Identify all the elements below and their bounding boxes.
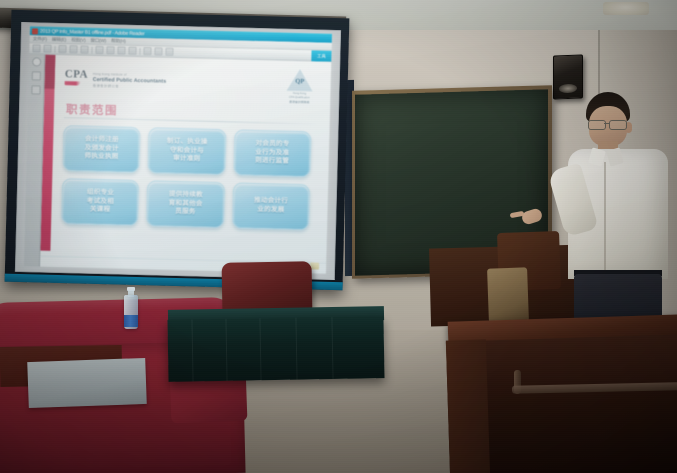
drape-fold	[295, 318, 297, 380]
qp-badge-line3: 香港會計師資格	[289, 100, 309, 105]
hand-tool-icon[interactable]	[128, 47, 136, 55]
presenter-shirt-placket	[604, 162, 606, 274]
attachments-icon[interactable]	[31, 85, 40, 94]
classroom-photo: 2013 QP Info_Master B1 offline.pdf - Ado…	[0, 0, 677, 473]
responsibility-box: 会计师注册及颁发会计师执业执照	[62, 125, 140, 173]
presenter	[560, 92, 677, 352]
responsibility-box-text: 推动会计行业的发展	[254, 197, 288, 215]
qp-triangle-icon: QP	[287, 69, 314, 92]
menu-item-file[interactable]: 文件(F)	[33, 36, 47, 42]
eyeglasses-icon	[588, 120, 628, 128]
cpa-swoosh-icon	[65, 81, 81, 85]
water-bottle	[124, 287, 138, 329]
responsibility-box-text: 对会员的专业行为及准则进行监管	[255, 140, 290, 167]
lectern-side-panel	[446, 339, 490, 473]
bookmarks-icon[interactable]	[32, 71, 41, 80]
cpa-brand-line3: 香港會計師公會	[93, 83, 167, 90]
eyeglass-lens-left	[588, 120, 606, 130]
pdf-slide: CPA Hong Kong Institute of Certified Pub…	[40, 55, 331, 274]
page-next-icon[interactable]	[106, 46, 114, 54]
drape-fold	[191, 319, 193, 381]
menu-item-window[interactable]: 窗口(W)	[90, 37, 106, 43]
drape-fold	[259, 318, 261, 380]
responsibility-box-text: 制订、执业操守和会计与审计准则	[166, 138, 207, 165]
comment-icon[interactable]	[154, 47, 162, 55]
fit-page-icon[interactable]	[165, 48, 173, 56]
responsibility-box-text: 组织专业考试及相关课程	[86, 189, 114, 216]
ceiling-light	[603, 2, 649, 15]
responsibility-box: 制订、执业操守和会计与审计准则	[148, 127, 226, 175]
document-area: CPA Hong Kong Institute of Certified Pub…	[24, 54, 331, 274]
responsibility-box: 对会员的专业行为及准则进行监管	[233, 129, 311, 177]
responsibility-box: 推动会计行业的发展	[232, 182, 310, 230]
toolbar-separator	[139, 48, 140, 55]
screen-surface: 2013 QP Info_Master B1 offline.pdf - Ado…	[15, 22, 341, 280]
qp-badge: QP Hong Kong CPA Qualification 香港會計師資格	[286, 69, 313, 105]
adobe-reader-window[interactable]: 2013 QP Info_Master B1 offline.pdf - Ado…	[24, 26, 332, 274]
adobe-reader-icon	[32, 28, 38, 34]
toolbar-separator	[54, 45, 55, 52]
qp-badge-line1: Hong Kong	[293, 92, 307, 95]
responsibility-box: 提供持续教育和其他会员服务	[146, 180, 224, 228]
wooden-chair-small	[487, 267, 529, 322]
menu-item-view[interactable]: 视图(V)	[71, 37, 85, 43]
tools-pane-tab[interactable]: 工具	[311, 50, 331, 62]
menu-item-edit[interactable]: 编辑(E)	[52, 36, 66, 42]
responsibility-box: 组织专业考试及相关课程	[61, 178, 139, 226]
wooden-lectern	[448, 318, 677, 473]
print-icon[interactable]	[43, 45, 51, 53]
bottle-label	[124, 315, 138, 327]
zoom-in-icon[interactable]	[80, 46, 88, 54]
eyeglass-lens-right	[609, 120, 627, 130]
drape-fold	[331, 317, 333, 379]
draped-table	[167, 316, 384, 382]
slide-title-rule	[64, 117, 319, 124]
toolbar-separator	[91, 46, 92, 53]
bottle-body	[124, 295, 138, 329]
select-tool-icon[interactable]	[117, 46, 125, 54]
drape-fold	[225, 319, 227, 381]
projection-screen: 2013 QP Info_Master B1 offline.pdf - Ado…	[5, 10, 350, 290]
zoom-out-icon[interactable]	[69, 45, 77, 53]
page-thumbnails-icon[interactable]	[32, 57, 41, 66]
menu-item-help[interactable]: 帮助(H)	[111, 38, 126, 44]
open-file-icon[interactable]	[32, 44, 40, 52]
responsibility-box-text: 会计师注册及颁发会计师执业执照	[84, 136, 119, 163]
table-surface-sheet	[27, 358, 147, 408]
cpa-logo-mark: CPA	[65, 69, 88, 81]
page-prev-icon[interactable]	[95, 46, 103, 54]
qp-badge-mark: QP	[291, 78, 309, 85]
slide-title: 职责范围	[66, 101, 118, 118]
slide-accent-bar-top	[45, 55, 56, 89]
responsibility-box-grid: 会计师注册及颁发会计师执业执照 制订、执业操守和会计与审计准则 对会员的专业行为…	[61, 125, 311, 230]
cpa-wordmark: Hong Kong Institute of Certified Public …	[93, 70, 167, 90]
save-icon[interactable]	[58, 45, 66, 53]
highlight-icon[interactable]	[143, 47, 151, 55]
responsibility-box-text: 提供持续教育和其他会员服务	[168, 191, 203, 218]
qp-badge-line2: CPA Qualification	[289, 96, 310, 100]
cpa-logo: CPA Hong Kong Institute of Certified Pub…	[65, 69, 167, 90]
